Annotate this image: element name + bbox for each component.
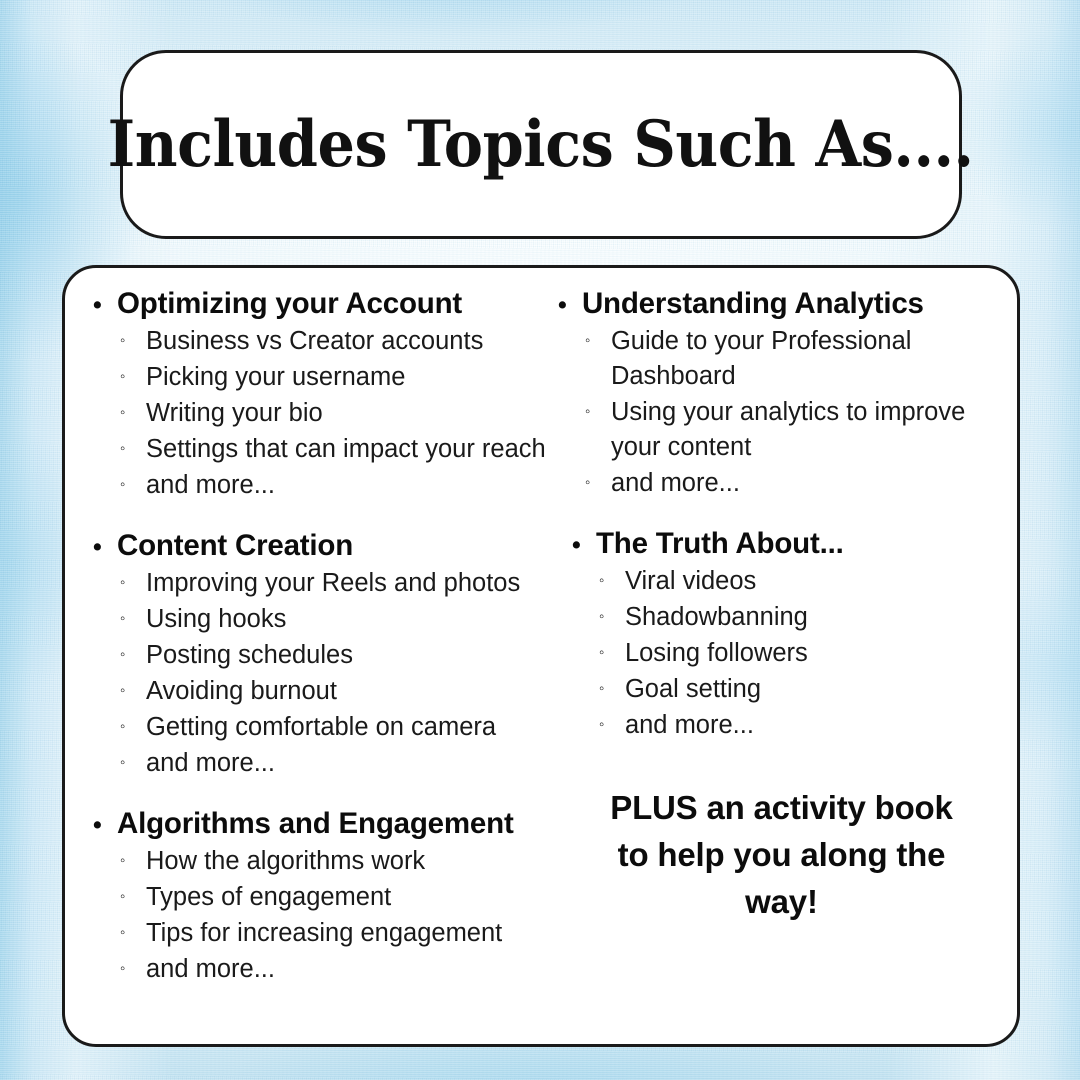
hollow-bullet-icon: ◦: [120, 441, 146, 456]
topic-sub-item-label: Settings that can impact your reach: [146, 432, 552, 467]
topic-sub-item: ◦Goal setting: [572, 672, 997, 707]
topic-group-heading-label: Content Creation: [117, 528, 353, 563]
topics-column-left: •Optimizing your Account◦Business vs Cre…: [85, 286, 552, 1028]
hollow-bullet-icon: ◦: [120, 647, 146, 662]
topic-group-heading-label: Algorithms and Engagement: [117, 806, 514, 841]
topics-column-right: •Understanding Analytics◦Guide to your P…: [552, 286, 997, 1028]
hollow-bullet-icon: ◦: [120, 575, 146, 590]
topic-group-heading: •Optimizing your Account: [93, 286, 552, 321]
topics-card: •Optimizing your Account◦Business vs Cre…: [62, 265, 1020, 1047]
page-title: Includes Topics Such As....: [108, 107, 974, 182]
topic-sub-item-label: Improving your Reels and photos: [146, 566, 552, 601]
topic-sub-item: ◦Losing followers: [572, 636, 997, 671]
topic-sub-item-label: Using hooks: [146, 602, 552, 637]
hollow-bullet-icon: ◦: [120, 719, 146, 734]
topic-group: •Optimizing your Account◦Business vs Cre…: [93, 286, 552, 503]
hollow-bullet-icon: ◦: [120, 611, 146, 626]
hollow-bullet-icon: ◦: [120, 683, 146, 698]
topic-sub-item-label: Types of engagement: [146, 880, 552, 915]
topic-group-heading: •The Truth About...: [572, 526, 997, 561]
topic-sub-list: ◦Guide to your Professional Dashboard◦Us…: [558, 324, 997, 501]
topic-sub-item-label: Viral videos: [625, 564, 997, 599]
hollow-bullet-icon: ◦: [120, 853, 146, 868]
topic-group: •Algorithms and Engagement◦How the algor…: [93, 806, 552, 987]
hollow-bullet-icon: ◦: [120, 925, 146, 940]
hollow-bullet-icon: ◦: [585, 475, 611, 490]
hollow-bullet-icon: ◦: [120, 405, 146, 420]
hollow-bullet-icon: ◦: [120, 961, 146, 976]
topic-sub-item-label: How the algorithms work: [146, 844, 552, 879]
topic-sub-item-label: Business vs Creator accounts: [146, 324, 552, 359]
topic-sub-item: ◦Using hooks: [93, 602, 552, 637]
hollow-bullet-icon: ◦: [120, 477, 146, 492]
topic-group-heading: •Algorithms and Engagement: [93, 806, 552, 841]
topic-sub-item: ◦and more...: [93, 952, 552, 987]
topic-sub-item-label: Tips for increasing engagement: [146, 916, 552, 951]
topic-sub-item: ◦How the algorithms work: [93, 844, 552, 879]
topic-sub-item-label: Shadowbanning: [625, 600, 997, 635]
hollow-bullet-icon: ◦: [585, 404, 611, 419]
topic-sub-item-label: and more...: [611, 466, 997, 501]
topic-sub-item: ◦Guide to your Professional Dashboard: [558, 324, 997, 394]
topic-sub-item: ◦Viral videos: [572, 564, 997, 599]
topic-sub-list: ◦Improving your Reels and photos◦Using h…: [93, 566, 552, 781]
topic-sub-item-label: and more...: [146, 468, 552, 503]
topic-sub-list: ◦Business vs Creator accounts◦Picking yo…: [93, 324, 552, 503]
topic-sub-item-label: and more...: [146, 952, 552, 987]
topic-group-heading-label: The Truth About...: [596, 526, 844, 561]
filled-bullet-icon: •: [558, 293, 582, 318]
topic-sub-item: ◦Writing your bio: [93, 396, 552, 431]
topic-sub-item-label: Picking your username: [146, 360, 552, 395]
filled-bullet-icon: •: [572, 533, 596, 558]
hollow-bullet-icon: ◦: [120, 755, 146, 770]
poster-canvas: Includes Topics Such As.... •Optimizing …: [0, 0, 1080, 1080]
topic-sub-item: ◦Posting schedules: [93, 638, 552, 673]
topic-sub-item-label: Using your analytics to improve your con…: [611, 395, 997, 465]
topic-sub-item-label: Posting schedules: [146, 638, 552, 673]
hollow-bullet-icon: ◦: [599, 681, 625, 696]
topic-sub-item: ◦Shadowbanning: [572, 600, 997, 635]
filled-bullet-icon: •: [93, 535, 117, 560]
topic-sub-item: ◦and more...: [572, 708, 997, 743]
topic-sub-item-label: Guide to your Professional Dashboard: [611, 324, 997, 394]
hollow-bullet-icon: ◦: [599, 609, 625, 624]
topic-sub-item: ◦Business vs Creator accounts: [93, 324, 552, 359]
topic-sub-item: ◦and more...: [558, 466, 997, 501]
topic-group-heading-label: Optimizing your Account: [117, 286, 462, 321]
topic-sub-item: ◦Tips for increasing engagement: [93, 916, 552, 951]
topic-sub-item: ◦and more...: [93, 746, 552, 781]
plus-bonus-callout: PLUS an activity book to help you along …: [558, 785, 997, 926]
topic-group: •Understanding Analytics◦Guide to your P…: [558, 286, 997, 501]
topic-sub-list: ◦Viral videos◦Shadowbanning◦Losing follo…: [572, 564, 997, 743]
topic-sub-item-label: Avoiding burnout: [146, 674, 552, 709]
topic-group: •Content Creation◦Improving your Reels a…: [93, 528, 552, 781]
topic-group-heading-label: Understanding Analytics: [582, 286, 924, 321]
topic-sub-item-label: Getting comfortable on camera: [146, 710, 552, 745]
topic-sub-item-label: Writing your bio: [146, 396, 552, 431]
topic-sub-item: ◦Types of engagement: [93, 880, 552, 915]
topic-sub-item-label: and more...: [625, 708, 997, 743]
topic-sub-item: ◦Getting comfortable on camera: [93, 710, 552, 745]
hollow-bullet-icon: ◦: [599, 573, 625, 588]
topic-sub-item: ◦Using your analytics to improve your co…: [558, 395, 997, 465]
title-card: Includes Topics Such As....: [120, 50, 962, 239]
topic-group-heading: •Understanding Analytics: [558, 286, 997, 321]
topic-sub-item: ◦Settings that can impact your reach: [93, 432, 552, 467]
topic-sub-list: ◦How the algorithms work◦Types of engage…: [93, 844, 552, 987]
topic-group: •The Truth About...◦Viral videos◦Shadowb…: [572, 526, 997, 743]
topic-sub-item: ◦Picking your username: [93, 360, 552, 395]
hollow-bullet-icon: ◦: [120, 889, 146, 904]
filled-bullet-icon: •: [93, 293, 117, 318]
topic-sub-item: ◦and more...: [93, 468, 552, 503]
topic-sub-item: ◦Improving your Reels and photos: [93, 566, 552, 601]
hollow-bullet-icon: ◦: [585, 333, 611, 348]
hollow-bullet-icon: ◦: [599, 645, 625, 660]
topic-sub-item-label: and more...: [146, 746, 552, 781]
hollow-bullet-icon: ◦: [120, 333, 146, 348]
topic-sub-item-label: Losing followers: [625, 636, 997, 671]
filled-bullet-icon: •: [93, 813, 117, 838]
topic-sub-item-label: Goal setting: [625, 672, 997, 707]
topic-group-heading: •Content Creation: [93, 528, 552, 563]
hollow-bullet-icon: ◦: [120, 369, 146, 384]
topic-sub-item: ◦Avoiding burnout: [93, 674, 552, 709]
hollow-bullet-icon: ◦: [599, 717, 625, 732]
